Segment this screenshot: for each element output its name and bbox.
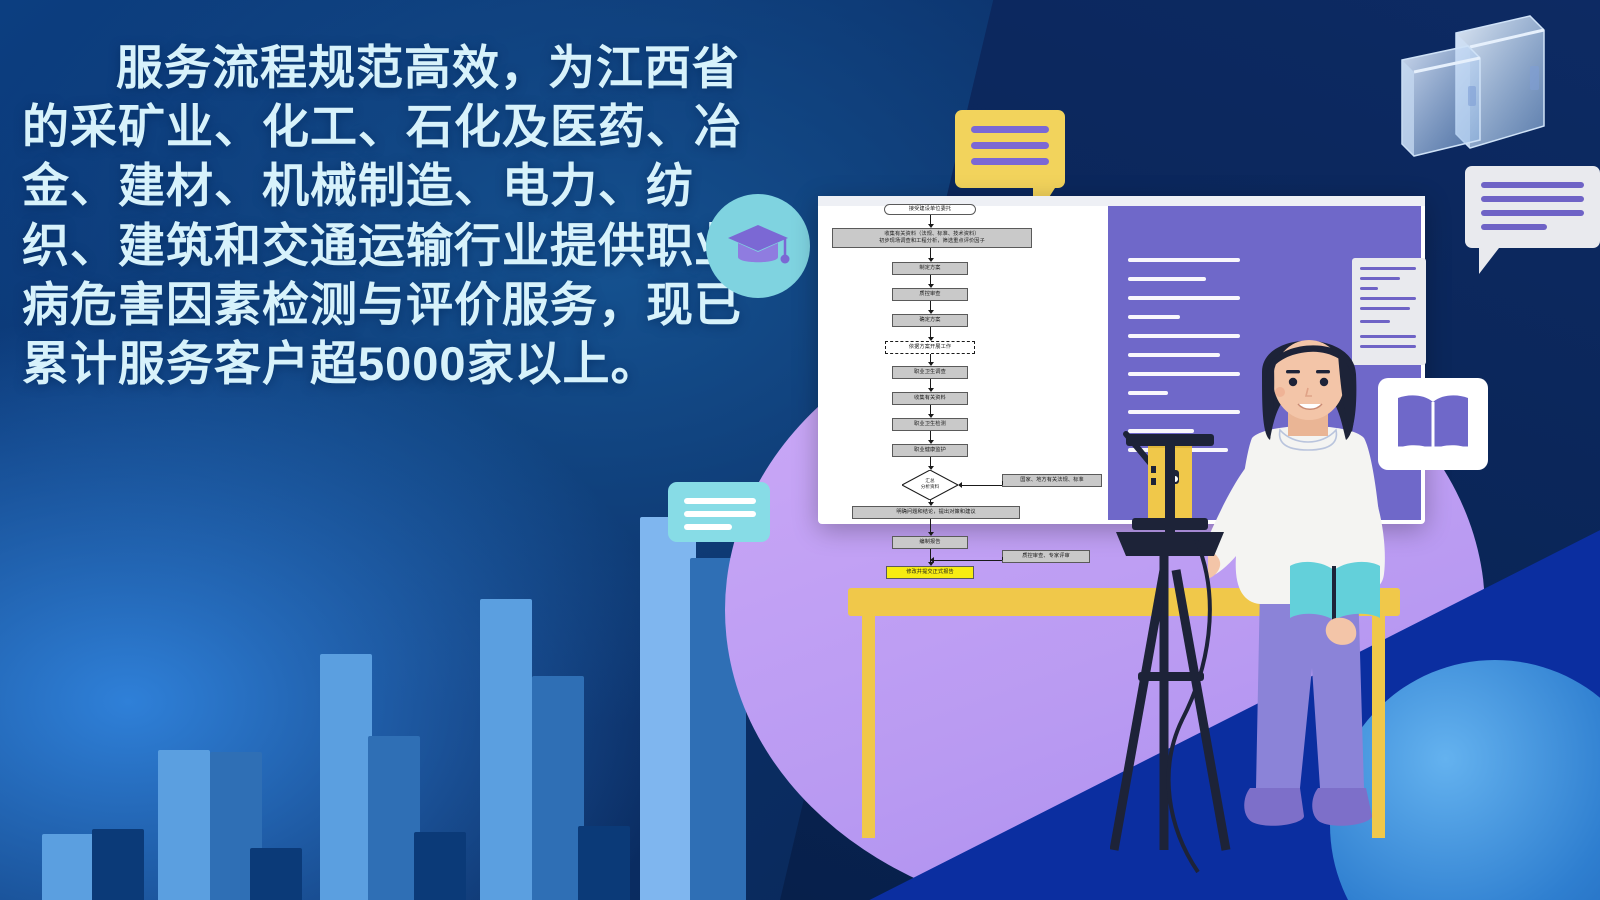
flow-arrow-head [928,466,934,470]
flow-arrow [930,354,931,362]
tripod-easel [1110,420,1280,880]
flow-arrow [930,275,931,284]
flow-node-n7: 职业卫生调查 [892,366,968,379]
flow-arrow-head [928,414,934,418]
flow-connector [934,560,1002,561]
chart-bar [158,750,210,900]
flow-arrow [930,248,931,258]
chart-bar [640,517,696,900]
poster-canvas: 服务流程规范高效，为江西省的采矿业、化工、石化及医药、冶金、建材、机械制造、电力… [0,0,1600,900]
chart-bar [250,848,302,900]
board-line [1128,391,1168,395]
flow-node-n4: 质控审查 [892,288,968,301]
flow-arrow-head [928,258,934,262]
flow-node-n5: 确定方案 [892,314,968,327]
flow-node-label: 汇总 分析资料 [921,479,939,491]
flow-arrow-head [928,224,934,228]
graduation-cap-icon [706,194,810,298]
chart-bar [42,834,94,900]
flow-arrow [930,457,931,466]
chart-bar [532,676,584,900]
chart-bar [480,599,532,900]
flow-connector [1002,481,1003,486]
chart-bar [92,829,144,900]
decorative-bar-chart [0,480,820,900]
flow-node-n14: 编制报告 [892,536,968,549]
board-line [1128,315,1180,319]
chart-bar [368,736,420,900]
flow-node-n11: 汇总 分析资料 [902,470,958,500]
board-line [1128,277,1206,281]
flow-arrow-head [928,532,934,536]
speech-bubble-icon [955,110,1065,188]
process-flowchart: 接受建设单位委托收集有关资料（法规、标准、技术资料） 初步现场调查和工程分析，筛… [826,202,1104,592]
flow-arrow-head [958,482,962,488]
board-line [1128,296,1240,300]
flow-node-n16: 修改并提交正式报告 [886,566,974,579]
flow-arrow [930,327,931,337]
speech-bubble-icon [668,482,770,542]
flow-node-n6: 依据方案开展工作 [885,341,975,354]
flow-arrow-head [928,310,934,314]
chart-bar [414,832,466,900]
glass-books-icon [1378,8,1588,188]
flow-arrow-head [928,337,934,341]
flow-arrow-head [928,362,934,366]
board-line [1128,353,1220,357]
flow-arrow-head [928,284,934,288]
flow-node-n3: 制定方案 [892,262,968,275]
flow-node-n9: 职业卫生检测 [892,418,968,431]
flow-arrow [930,519,931,532]
chart-bar [578,826,630,900]
page-title: 服务流程规范高效，为江西省的采矿业、化工、石化及医药、冶金、建材、机械制造、电力… [22,38,772,393]
flow-connector [1002,557,1003,561]
flow-node-n10: 职业健康监护 [892,444,968,457]
flow-node-n1: 接受建设单位委托 [884,204,976,215]
flow-node-n2: 收集有关资料（法规、标准、技术资料） 初步现场调查和工程分析，筛选重点评价因子 [832,228,1032,248]
flow-arrow-head [928,440,934,444]
flow-arrow-head [930,557,934,563]
board-line [1128,258,1240,262]
flow-arrow [930,431,931,440]
flow-connector [962,485,1002,486]
flow-arrow [930,379,931,388]
flow-arrow [930,301,931,310]
flow-arrow-head [928,388,934,392]
chart-bar [320,654,372,900]
flow-node-n15: 质控审查、专家评审 [1002,550,1090,563]
flow-arrow [930,215,931,224]
flow-node-n12: 国家、地方有关法规、标准 [1002,474,1102,487]
flow-node-n8: 收集有关资料 [892,392,968,405]
flow-arrow [930,405,931,414]
flow-arrow-head [928,502,934,506]
desk-leg [862,616,875,838]
flow-node-n13: 明确问题和结论，提出对策和建议 [852,506,1020,519]
